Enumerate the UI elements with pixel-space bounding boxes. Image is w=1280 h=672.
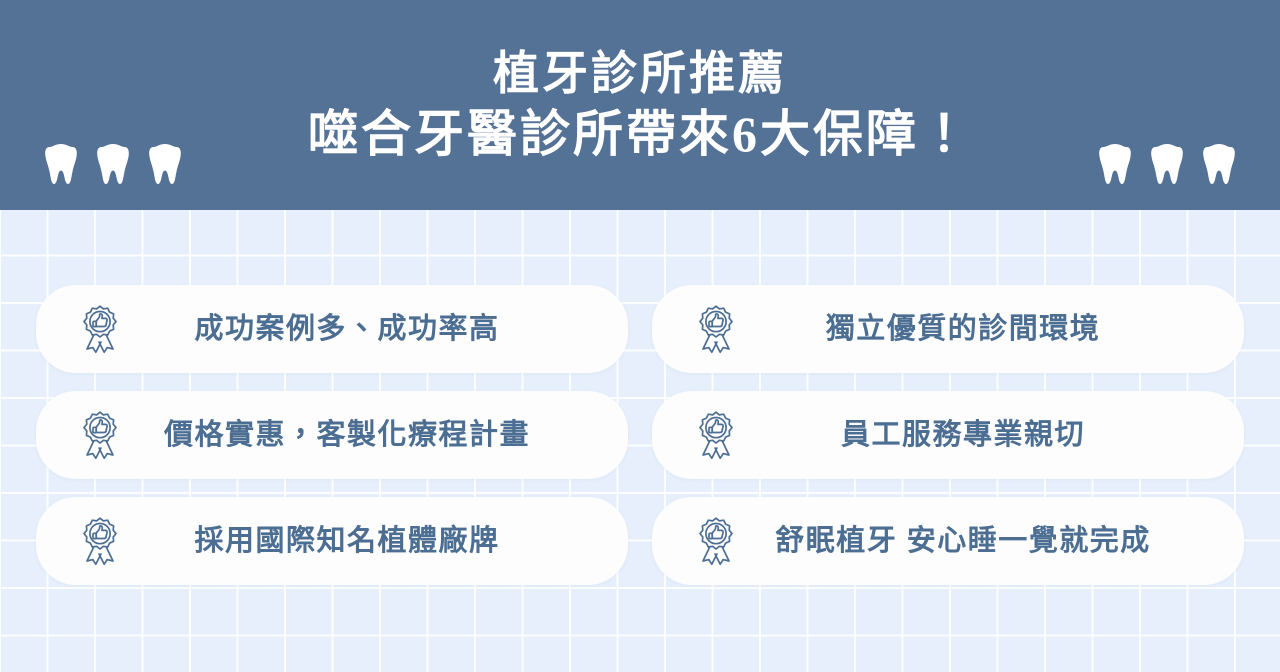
- tooth-icon: [1202, 142, 1236, 186]
- infographic-poster: 植牙診所推薦 噬合牙醫診所帶來6大保障！: [0, 0, 1280, 672]
- benefit-card[interactable]: 採用國際知名植體廠牌: [36, 497, 628, 585]
- header-band: 植牙診所推薦 噬合牙醫診所帶來6大保障！: [0, 0, 1280, 210]
- benefit-label: 員工服務專業親切: [748, 418, 1218, 453]
- benefit-card[interactable]: 價格實惠，客製化療程計畫: [36, 391, 628, 479]
- tooth-icon: [1150, 142, 1184, 186]
- page-title-line-1: 植牙診所推薦: [493, 48, 787, 100]
- tooth-icon: [1098, 142, 1132, 186]
- benefit-label: 價格實惠，客製化療程計畫: [132, 418, 602, 453]
- award-badge-thumbs-up-icon: [690, 515, 742, 567]
- benefit-card[interactable]: 舒眠植牙 安心睡一覺就完成: [652, 497, 1244, 585]
- benefit-card[interactable]: 成功案例多、成功率高: [36, 285, 628, 373]
- award-badge-thumbs-up-icon: [690, 303, 742, 355]
- benefit-label: 舒眠植牙 安心睡一覺就完成: [748, 524, 1218, 559]
- award-badge-thumbs-up-icon: [690, 409, 742, 461]
- benefit-card-grid: 成功案例多、成功率高 獨立優質的診間環境: [36, 285, 1244, 585]
- benefit-card[interactable]: 員工服務專業親切: [652, 391, 1244, 479]
- teeth-decoration-right: [1098, 142, 1236, 186]
- benefit-card[interactable]: 獨立優質的診間環境: [652, 285, 1244, 373]
- benefit-label: 成功案例多、成功率高: [132, 312, 602, 347]
- benefit-label: 採用國際知名植體廠牌: [132, 524, 602, 559]
- benefit-label: 獨立優質的診間環境: [748, 312, 1218, 347]
- header-title-block: 植牙診所推薦 噬合牙醫診所帶來6大保障！: [0, 0, 1280, 210]
- page-title-line-2: 噬合牙醫診所帶來6大保障！: [308, 106, 972, 162]
- award-badge-thumbs-up-icon: [74, 303, 126, 355]
- award-badge-thumbs-up-icon: [74, 515, 126, 567]
- award-badge-thumbs-up-icon: [74, 409, 126, 461]
